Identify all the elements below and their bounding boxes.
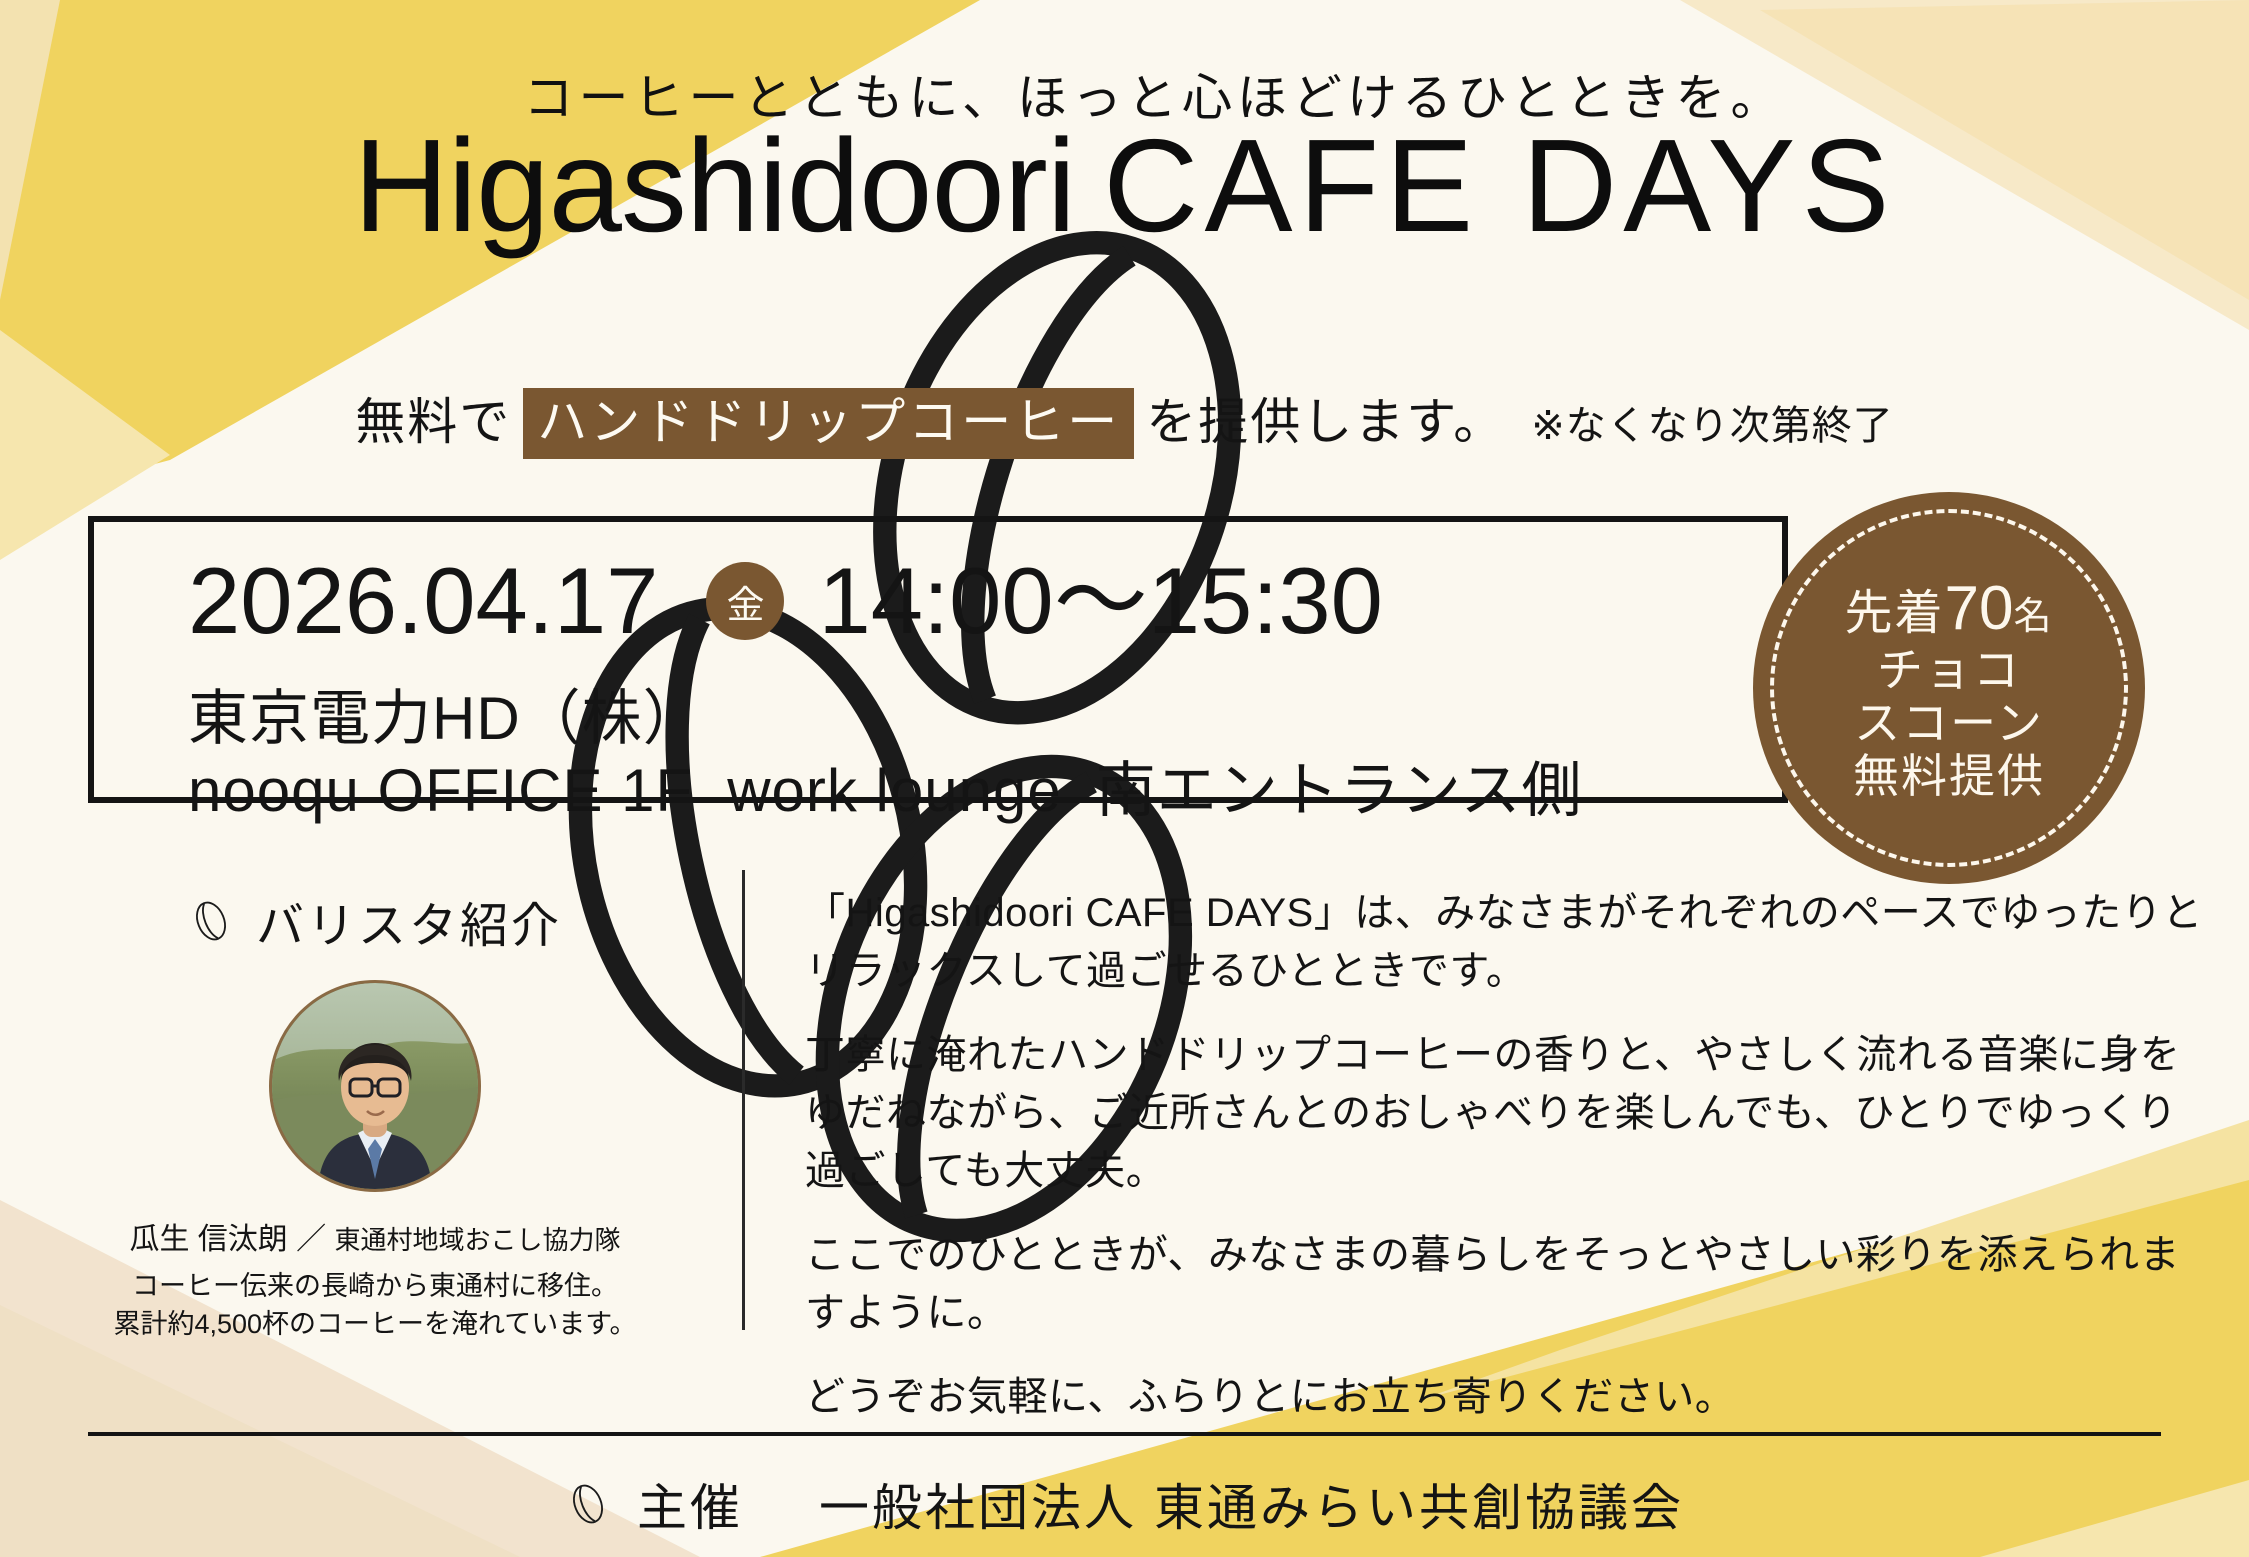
status-badge: 先着70名 チョコ スコーン 無料提供	[1753, 492, 2145, 884]
barista-heading: バリスタ紹介	[55, 886, 695, 956]
event-date: 2026.04.17	[188, 554, 658, 648]
description-paragraph-4: どうぞお気軽に、ふらりとにお立ち寄りください。	[805, 1368, 2205, 1426]
badge-line-2: チョコ	[1877, 644, 2021, 697]
badge-line-3: スコーン	[1854, 697, 2044, 750]
avatar-photo	[272, 983, 478, 1189]
badge-number: 70	[1945, 574, 2014, 643]
description-paragraph-3: ここでのひとときが、みなさまの暮らしをそっとやさしい彩りを添えられますように。	[805, 1226, 2205, 1342]
barista-name-line: 瓜生 信汰朗 ／ 東通村地域おこし協力隊	[55, 1214, 695, 1258]
badge-line-1: 先着70名	[1845, 573, 2054, 644]
offer-prefix: 無料で	[355, 394, 511, 450]
page-title: HigashidooriCAFE DAYS	[0, 110, 2249, 261]
barista-name: 瓜生 信汰朗	[129, 1223, 287, 1256]
title-part-1: Higashidoori	[353, 112, 1075, 259]
barista-desc-line-1: コーヒー伝来の長崎から東通村に移住。	[55, 1268, 695, 1304]
footer-organizer: 一般社団法人 東通みらい共創協議会	[819, 1468, 1684, 1540]
barista-heading-label: バリスタ紹介	[256, 886, 562, 956]
badge-prefix: 先着	[1845, 587, 1945, 640]
poster-content: コーヒーとともに、ほっと心ほどけるひとときを。 HigashidooriCAFE…	[0, 0, 2249, 1557]
footer: 主催 一般社団法人 東通みらい共創協議会	[0, 1468, 2249, 1540]
barista-desc-line-2: 累計約4,500杯のコーヒーを淹れています。	[55, 1306, 695, 1342]
venue-line-2: nooqu OFFICE 1Fwork lounge南エントランス側	[188, 742, 1583, 829]
avatar	[269, 980, 481, 1192]
poster-root: コーヒーとともに、ほっと心ほどけるひとときを。 HigashidooriCAFE…	[0, 0, 2249, 1557]
event-time: 14:00〜15:30	[818, 554, 1382, 648]
description-paragraph-1: 「Higashidoori CAFE DAYS」は、みなさまがそれぞれのペースで…	[805, 884, 2205, 1000]
offer-note: ※なくなり次第終了	[1531, 404, 1894, 448]
coffee-bean-glyph	[188, 898, 234, 944]
barista-role: 東通村地域おこし協力隊	[335, 1225, 621, 1255]
title-part-2: CAFE DAYS	[1075, 112, 1895, 259]
badge-line-4: 無料提供	[1853, 750, 2045, 803]
barista-profile: バリスタ紹介	[55, 880, 695, 1343]
footer-divider	[88, 1432, 2161, 1436]
badge-suffix: 名	[2013, 596, 2053, 638]
coffee-bean-icon	[188, 898, 234, 944]
date-time-row: 2026.04.17 金 14:00〜15:30	[94, 554, 1782, 648]
offer-suffix: を提供します。	[1146, 394, 1505, 450]
event-details-box: 2026.04.17 金 14:00〜15:30 東京電力HD（株） nooqu…	[88, 516, 1788, 803]
venue-building: nooqu OFFICE 1F	[188, 757, 693, 824]
lower-section: バリスタ紹介	[0, 880, 2249, 1440]
offer-highlight: ハンドドリップコーヒー	[523, 388, 1134, 459]
footer-label: 主催	[637, 1468, 743, 1540]
venue-entrance: 南エントランス側	[1096, 757, 1583, 824]
day-of-week-badge: 金	[706, 562, 784, 640]
divider	[742, 870, 745, 1330]
venue-area: work lounge	[727, 757, 1062, 824]
offer-line: 無料でハンドドリップコーヒーを提供します。※なくなり次第終了	[0, 382, 2249, 454]
description-paragraph-2: 丁寧に淹れたハンドドリップコーヒーの香りと、やさしく流れる音楽に身をゆだねながら…	[805, 1026, 2205, 1200]
barista-name-separator: ／	[296, 1223, 326, 1256]
coffee-bean-icon-footer	[565, 1481, 611, 1527]
description-block: 「Higashidoori CAFE DAYS」は、みなさまがそれぞれのペースで…	[805, 884, 2205, 1426]
coffee-bean-glyph-footer	[565, 1481, 611, 1527]
